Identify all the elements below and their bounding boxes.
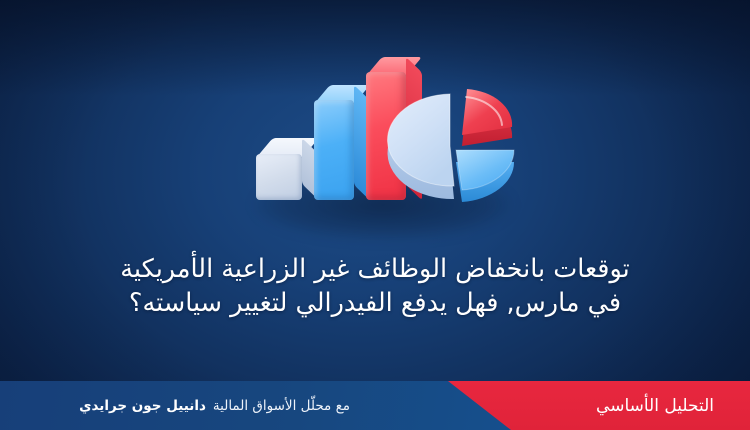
headline: توقعات بانخفاض الوظائف غير الزراعية الأم… <box>60 252 690 320</box>
pie-slice-red-exploded <box>462 89 512 146</box>
promo-card: توقعات بانخفاض الوظائف غير الزراعية الأم… <box>0 0 750 430</box>
footer-bar: التحليل الأساسي مع محلّل الأسواق المالية… <box>0 381 750 430</box>
analyst-name: دانييل جون جرايدي <box>79 398 206 414</box>
credit-prefix: مع محلّل الأسواق المالية <box>213 398 350 414</box>
pie-chart-3d-icon <box>386 84 516 224</box>
analyst-credit: مع محلّل الأسواق المالية دانييل جون جراي… <box>0 381 380 430</box>
bar-blue-medium-icon <box>314 100 354 200</box>
chart-illustration <box>248 50 516 230</box>
pie-slice-blue <box>456 150 514 202</box>
bar-pale-short-icon <box>256 154 302 200</box>
bar-front-face <box>256 154 302 200</box>
headline-line-2: في مارس, فهل يدفع الفيدرالي لتغيير سياست… <box>60 286 690 320</box>
headline-line-1: توقعات بانخفاض الوظائف غير الزراعية الأم… <box>120 254 629 284</box>
pie-slice-pale <box>388 94 454 199</box>
bar-front-face <box>314 100 354 200</box>
category-label: التحليل الأساسي <box>596 381 714 430</box>
